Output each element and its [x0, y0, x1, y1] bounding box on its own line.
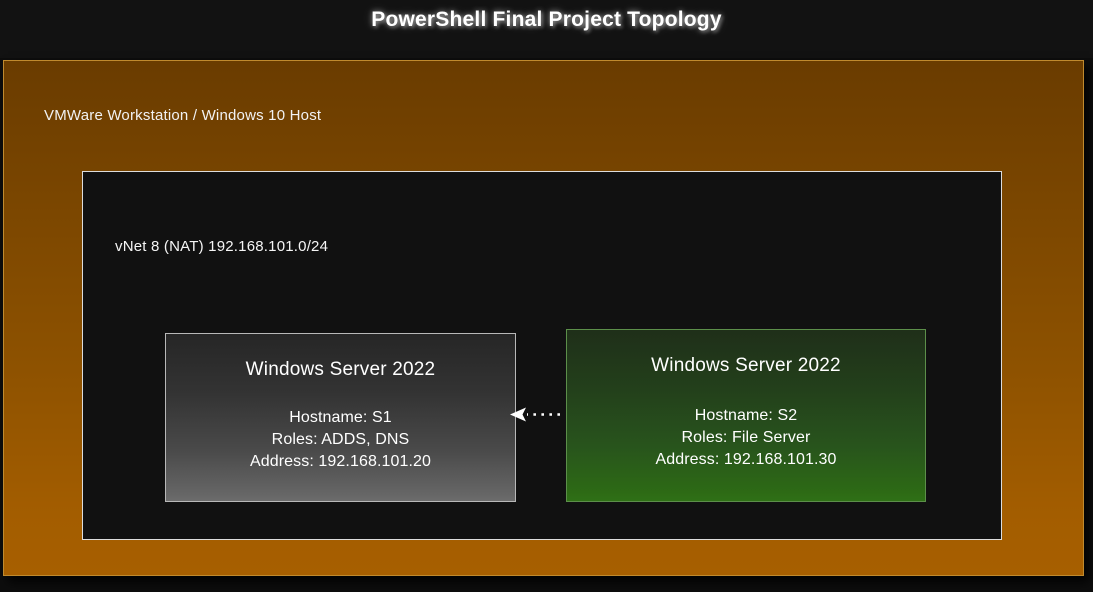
server-s2-address: Address: 192.168.101.30	[567, 449, 925, 471]
vnet-panel-label: vNet 8 (NAT) 192.168.101.0/24	[115, 238, 328, 255]
vnet-panel: vNet 8 (NAT) 192.168.101.0/24 Windows Se…	[82, 171, 1002, 540]
title-bar: PowerShell Final Project Topology	[0, 0, 1093, 58]
server-s2-title: Windows Server 2022	[567, 355, 925, 377]
server-s1-roles: Roles: ADDS, DNS	[166, 429, 515, 451]
server-s2-details: Hostname: S2 Roles: File Server Address:…	[567, 405, 925, 471]
server-s1-address: Address: 192.168.101.20	[166, 451, 515, 473]
server-s1-hostname: Hostname: S1	[166, 407, 515, 429]
server-node-s1[interactable]: Windows Server 2022 Hostname: S1 Roles: …	[165, 333, 516, 502]
server-s2-roles: Roles: File Server	[567, 427, 925, 449]
host-panel: VMWare Workstation / Windows 10 Host vNe…	[3, 60, 1084, 576]
server-node-s2[interactable]: Windows Server 2022 Hostname: S2 Roles: …	[566, 329, 926, 502]
server-s1-title: Windows Server 2022	[166, 359, 515, 381]
server-s2-hostname: Hostname: S2	[567, 405, 925, 427]
host-panel-label: VMWare Workstation / Windows 10 Host	[44, 107, 321, 124]
page-title: PowerShell Final Project Topology	[0, 8, 1093, 32]
server-s1-details: Hostname: S1 Roles: ADDS, DNS Address: 1…	[166, 407, 515, 473]
